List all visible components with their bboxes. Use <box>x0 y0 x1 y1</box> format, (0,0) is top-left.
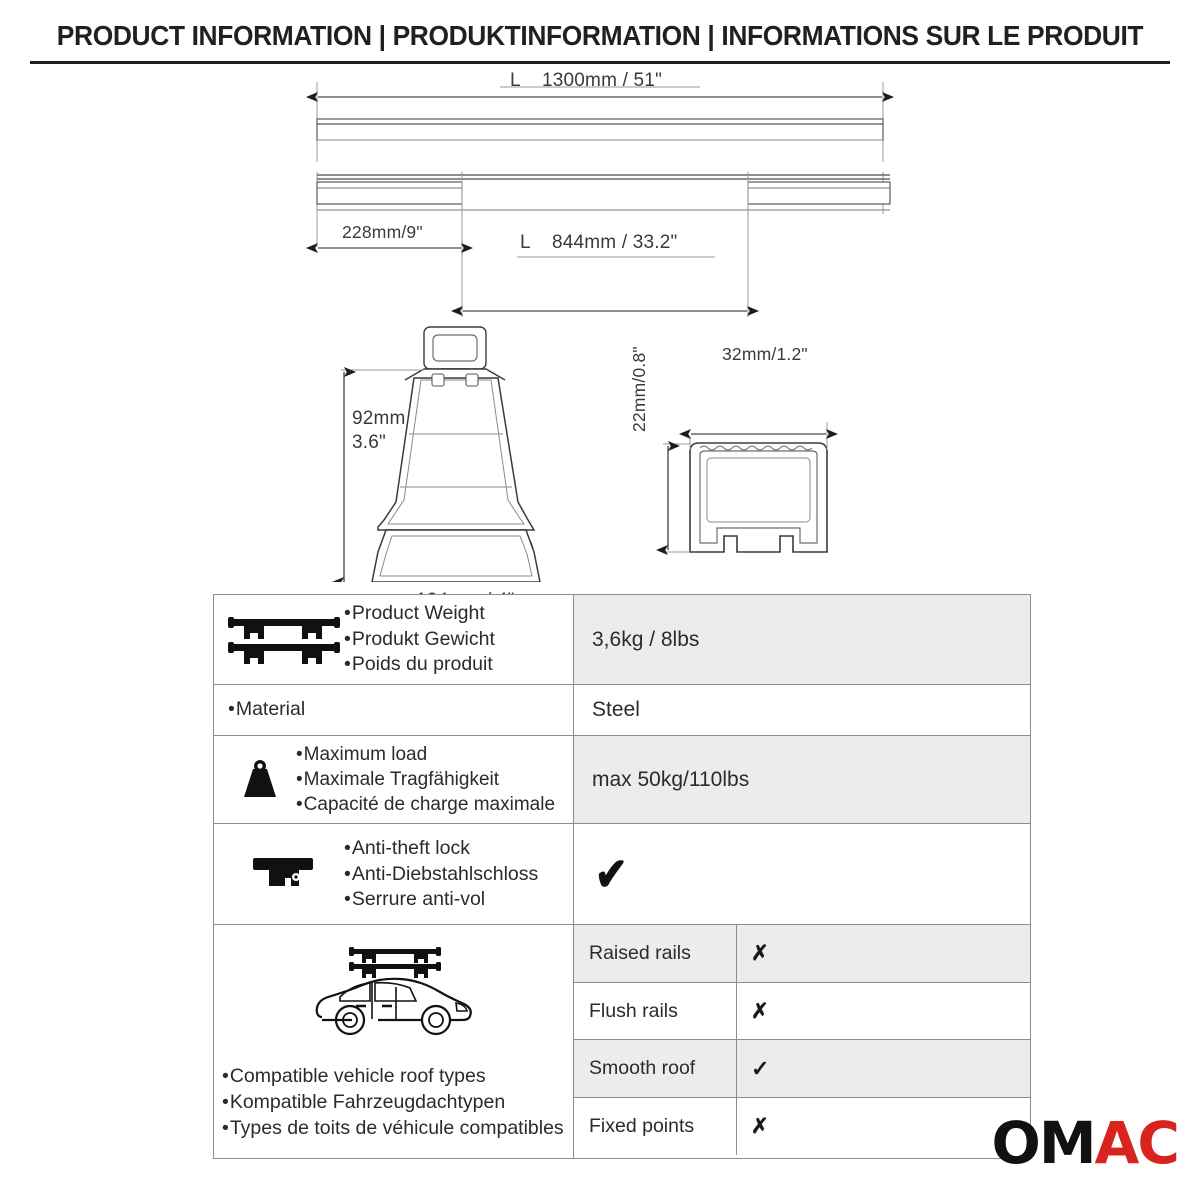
dim-label-profile-height: 22mm/0.8" <box>629 346 650 432</box>
check-icon: ✓ <box>751 1056 769 1082</box>
dim-bar-span <box>463 257 747 311</box>
roof-type-name: Flush rails <box>574 983 737 1040</box>
roof-type-row-fixed-points: Fixed points ✗ <box>574 1098 1030 1156</box>
table-row-roof-types: Compatible vehicle roof types Kompatible… <box>214 925 1030 1157</box>
spec-label-text: Maximum load Maximale Tragfähigkeit Capa… <box>296 742 555 817</box>
cross-icon: ✗ <box>751 999 769 1024</box>
spec-label-cell: Material <box>214 685 574 735</box>
check-icon: ✔ <box>595 851 628 897</box>
table-row: Maximum load Maximale Tragfähigkeit Capa… <box>214 736 1030 824</box>
page-header: PRODUCT INFORMATION | PRODUKTINFORMATION… <box>0 0 1200 62</box>
roof-type-mark: ✗ <box>737 925 1030 982</box>
logo-text-ac: AC <box>1095 1109 1178 1177</box>
dim-label-total-length: L 1300mm / 51" <box>510 70 662 92</box>
dim-label-foot-height: 92mm 3.6" <box>352 407 406 454</box>
spec-value-material: Steel <box>574 685 1030 735</box>
table-row: Material Steel <box>214 685 1030 736</box>
car-with-crossbars-icon <box>304 939 484 1050</box>
roof-type-name: Fixed points <box>574 1098 737 1156</box>
product-spec-table: Product Weight Produkt Gewicht Poids du … <box>213 594 1031 1159</box>
roof-type-row-smooth-roof: Smooth roof ✓ <box>574 1040 1030 1098</box>
spec-value-product-weight: 3,6kg / 8lbs <box>574 595 1030 684</box>
drawings-svg <box>0 62 1200 582</box>
spec-label-cell: Anti-theft lock Anti-Diebstahlschloss Se… <box>214 824 574 924</box>
omac-logo: OMAC <box>992 1114 1178 1172</box>
roof-types-label-text: Compatible vehicle roof types Kompatible… <box>222 1064 564 1141</box>
dim-label-foot-inset: 228mm/9" <box>342 222 423 243</box>
spec-label-cell: Product Weight Produkt Gewicht Poids du … <box>214 595 574 684</box>
spec-label-text: Material <box>224 697 305 723</box>
roof-type-mark: ✓ <box>737 1040 1030 1097</box>
foot-front-view <box>372 327 540 582</box>
bar-cross-section <box>663 422 827 552</box>
spec-value-anti-theft-lock: ✔ <box>574 824 1030 924</box>
roof-types-label-cell: Compatible vehicle roof types Kompatible… <box>214 925 574 1157</box>
dim-label-profile-width: 32mm/1.2" <box>722 344 808 365</box>
roof-type-row-raised-rails: Raised rails ✗ <box>574 925 1030 983</box>
roof-type-mark: ✗ <box>737 1098 1030 1156</box>
bar-top-view <box>317 82 883 162</box>
cross-icon: ✗ <box>751 941 769 966</box>
roof-type-mark: ✗ <box>737 983 1030 1040</box>
roof-types-list: Raised rails ✗ Flush rails ✗ Smooth roof… <box>574 925 1030 1157</box>
roof-type-name: Raised rails <box>574 925 737 982</box>
technical-drawings: L 1300mm / 51" 228mm/9" L 844mm / 33.2" … <box>0 62 1200 582</box>
roof-type-row-flush-rails: Flush rails ✗ <box>574 983 1030 1041</box>
crossbars-pair-icon <box>224 611 344 669</box>
logo-text-om: OM <box>992 1109 1095 1177</box>
roof-type-name: Smooth roof <box>574 1040 737 1097</box>
spec-label-text: Anti-theft lock Anti-Diebstahlschloss Se… <box>344 836 538 913</box>
lock-bar-icon <box>224 852 344 896</box>
spec-label-cell: Maximum load Maximale Tragfähigkeit Capa… <box>214 736 574 823</box>
cross-icon: ✗ <box>751 1114 769 1139</box>
table-row: Product Weight Produkt Gewicht Poids du … <box>214 595 1030 685</box>
spec-value-maximum-load: max 50kg/110lbs <box>574 736 1030 823</box>
dim-label-bar-span: L 844mm / 33.2" <box>520 232 678 254</box>
weight-icon <box>224 755 296 805</box>
spec-label-text: Product Weight Produkt Gewicht Poids du … <box>344 601 495 678</box>
page-title: PRODUCT INFORMATION | PRODUKTINFORMATION… <box>24 20 1176 52</box>
table-row: Anti-theft lock Anti-Diebstahlschloss Se… <box>214 824 1030 925</box>
